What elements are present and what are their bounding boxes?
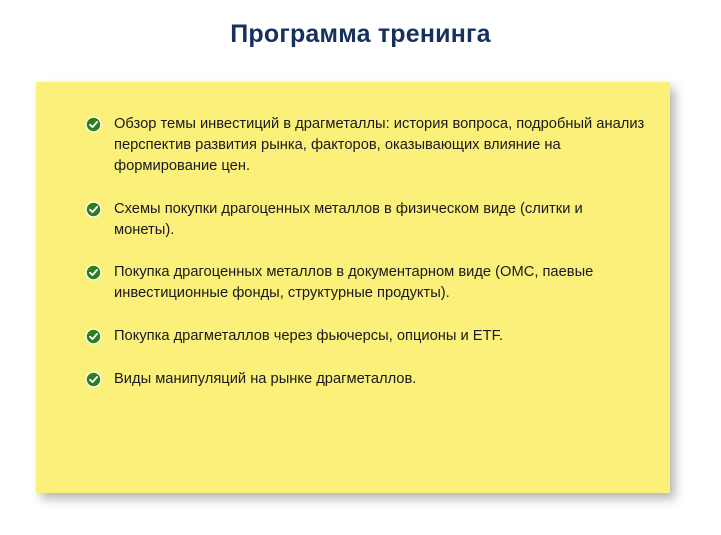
list-item-label: Обзор темы инвестиций в драгметаллы: ист…: [114, 114, 645, 177]
bullet-list: Обзор темы инвестиций в драгметаллы: ист…: [85, 114, 645, 390]
slide-root: Программа тренинга Обзор темы инвестиций…: [0, 0, 721, 535]
check-circle-icon: [85, 328, 102, 345]
list-item: Покупка драгоценных металлов в документа…: [85, 262, 645, 304]
list-item-label: Покупка драгметаллов через фьючерсы, опц…: [114, 326, 645, 347]
list-item: Покупка драгметаллов через фьючерсы, опц…: [85, 326, 645, 347]
list-item: Обзор темы инвестиций в драгметаллы: ист…: [85, 114, 645, 177]
page-title: Программа тренинга: [0, 20, 721, 49]
check-circle-icon: [85, 264, 102, 281]
content-card: Обзор темы инвестиций в драгметаллы: ист…: [36, 82, 670, 493]
list-item: Виды манипуляций на рынке драгметаллов.: [85, 369, 645, 390]
check-circle-icon: [85, 371, 102, 388]
check-circle-icon: [85, 116, 102, 133]
list-item-label: Покупка драгоценных металлов в документа…: [114, 262, 645, 304]
check-circle-icon: [85, 201, 102, 218]
list-item-label: Схемы покупки драгоценных металлов в физ…: [114, 199, 645, 241]
list-item: Схемы покупки драгоценных металлов в физ…: [85, 199, 645, 241]
list-item-label: Виды манипуляций на рынке драгметаллов.: [114, 369, 645, 390]
